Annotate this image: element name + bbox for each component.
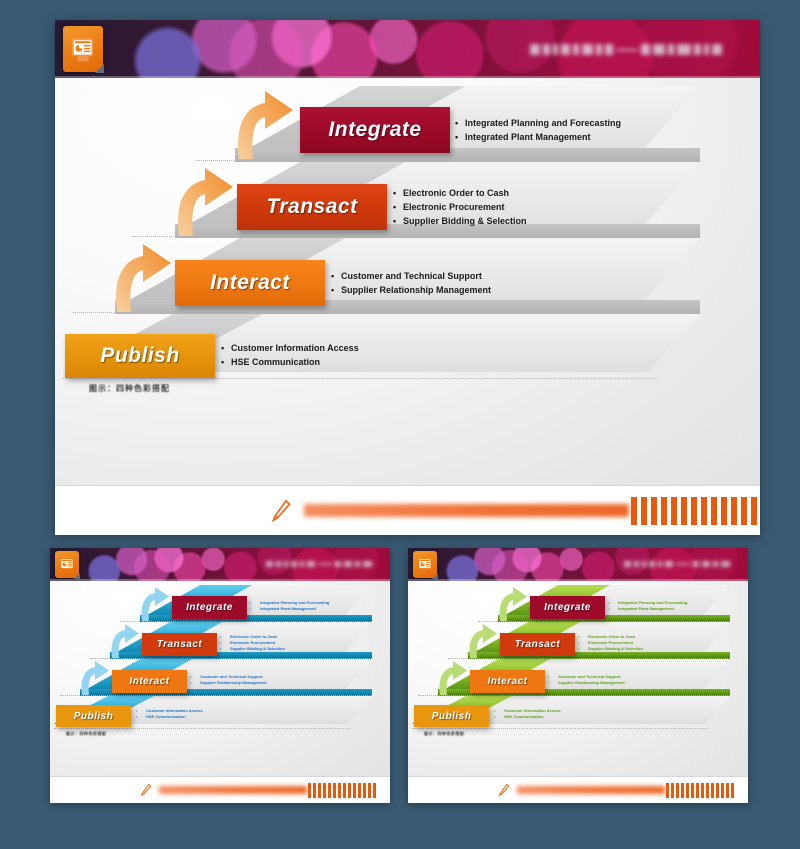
pencil-icon[interactable] [140,783,152,797]
tier-bullets-publish: Customer Information Access HSE Communic… [494,708,561,720]
bullet-item: Integrated Planning and Forecasting [455,116,621,130]
tier-label-text: Interact [129,676,169,687]
bullet-item: Customer and Technical Support [331,269,491,283]
tier-bullets-publish: Customer Information Access HSE Communic… [136,708,203,720]
tier-label-text: Publish [432,711,472,722]
arrow-to-transact [105,620,141,659]
tier-bullets-transact: Electronic Order to Cash Electronic Proc… [220,634,285,652]
arrow-to-interact [103,236,175,314]
bullet-item: Integrated Plant Management [250,606,329,612]
diagram-note: 图示：四种色彩搭配 [424,731,465,737]
arrow-to-integrate [135,583,171,622]
powerpoint-icon[interactable] [413,551,437,578]
tier-bullets-integrate: Integrated Planning and Forecasting Inte… [608,600,687,612]
footer-progress-stripes [308,783,376,798]
pencil-icon[interactable] [498,783,510,797]
slide-footer [50,776,390,803]
tier-label-text: Publish [74,711,114,722]
slide-main[interactable]: Integrate Transact Interact Publish Inte… [55,20,760,535]
footer-text-redacted [304,504,629,517]
bullet-item: HSE Communication [494,714,561,720]
tier-label-text: Transact [515,639,561,650]
tier-bullets-interact: Customer and Technical Support Supplier … [331,269,491,297]
footer-text-redacted [517,786,665,794]
powerpoint-icon[interactable] [63,26,103,72]
tier-bullets-interact: Customer and Technical Support Supplier … [548,674,625,686]
staircase-diagram: Integrate Transact Interact Publish Inte… [408,581,748,776]
staircase-diagram: Integrate Transact Interact Publish Inte… [50,581,390,776]
bullet-item: Customer Information Access [221,341,359,355]
divider-4 [63,378,658,379]
icon-fold [432,573,438,579]
tier-label-text: Interact [210,271,290,295]
diagram-note: 图示：四种色彩搭配 [66,731,107,737]
tier-label-transact[interactable]: Transact [142,633,217,656]
bullet-item: Integrated Plant Management [608,606,687,612]
slide-footer [55,485,760,535]
footer-text-redacted [159,786,307,794]
slide-thumbnail-blue[interactable]: Integrate Transact Interact Publish Inte… [50,548,390,803]
powerpoint-icon[interactable] [55,551,79,578]
footer-progress-stripes [666,783,734,798]
slide-canvas: Integrate Transact Interact Publish Inte… [408,581,748,776]
bullet-item: HSE Communication [221,355,359,369]
slide-thumbnail-green[interactable]: Integrate Transact Interact Publish Inte… [408,548,748,803]
tier-label-integrate[interactable]: Integrate [172,596,247,619]
arrow-to-interact [75,657,111,696]
tier-label-text: Publish [100,344,179,368]
tier-label-interact[interactable]: Interact [470,670,545,693]
tier-label-integrate[interactable]: Integrate [300,107,450,153]
slide-footer [408,776,748,803]
tier-label-text: Interact [487,676,527,687]
tier-bullets-transact: Electronic Order to Cash Electronic Proc… [578,634,643,652]
tier-bullets-integrate: Integrated Planning and Forecasting Inte… [250,600,329,612]
pencil-icon[interactable] [270,498,292,524]
bullet-item: HSE Communication [136,714,203,720]
slide-header [408,548,748,581]
slide-canvas: Integrate Transact Interact Publish Inte… [50,581,390,776]
tier-label-text: Integrate [544,602,591,613]
staircase-diagram: Integrate Transact Interact Publish Inte… [55,78,760,485]
bullet-item: Supplier Relationship Management [331,283,491,297]
tier-label-text: Transact [157,639,203,650]
bullet-item: Electronic Procurement [393,200,527,214]
tier-bullets-publish: Customer Information Access HSE Communic… [221,341,359,369]
tier-label-publish[interactable]: Publish [56,705,131,727]
slide-canvas: Integrate Transact Interact Publish Inte… [55,78,760,485]
footer-progress-stripes [631,497,760,525]
arrow-to-integrate [225,83,297,161]
divider-4 [412,728,708,729]
slide-title-redacted [530,43,722,56]
arrow-to-transact [463,620,499,659]
bullet-item: Supplier Bidding & Selection [393,214,527,228]
diagram-note: 图示：四种色彩搭配 [89,383,170,394]
slide-title-redacted [266,560,372,568]
bullet-item: Electronic Order to Cash [393,186,527,200]
icon-fold [95,64,104,73]
slide-header [50,548,390,581]
tier-bullets-transact: Electronic Order to Cash Electronic Proc… [393,186,527,228]
tier-label-text: Integrate [186,602,233,613]
bullet-item: Integrated Plant Management [455,130,621,144]
tier-label-text: Integrate [328,118,421,142]
slide-title-redacted [624,560,730,568]
page-root: Integrate Transact Interact Publish Inte… [0,0,800,849]
tier-label-integrate[interactable]: Integrate [530,596,605,619]
arrow-to-transact [165,160,237,238]
tier-bullets-integrate: Integrated Planning and Forecasting Inte… [455,116,621,144]
divider-4 [54,728,350,729]
tier-label-transact[interactable]: Transact [237,184,387,230]
arrow-to-interact [433,657,469,696]
tier-label-text: Transact [266,195,357,219]
bullet-item: Supplier Bidding & Selection [578,646,643,652]
tier-label-publish[interactable]: Publish [414,705,489,727]
bullet-item: Supplier Relationship Management [190,680,267,686]
tier-label-interact[interactable]: Interact [175,260,325,306]
tier-label-transact[interactable]: Transact [500,633,575,656]
slide-header [55,20,760,78]
tier-label-interact[interactable]: Interact [112,670,187,693]
bullet-item: Supplier Relationship Management [548,680,625,686]
bullet-item: Supplier Bidding & Selection [220,646,285,652]
tier-label-publish[interactable]: Publish [65,334,215,378]
tier-bullets-interact: Customer and Technical Support Supplier … [190,674,267,686]
arrow-to-integrate [493,583,529,622]
icon-fold [74,573,80,579]
